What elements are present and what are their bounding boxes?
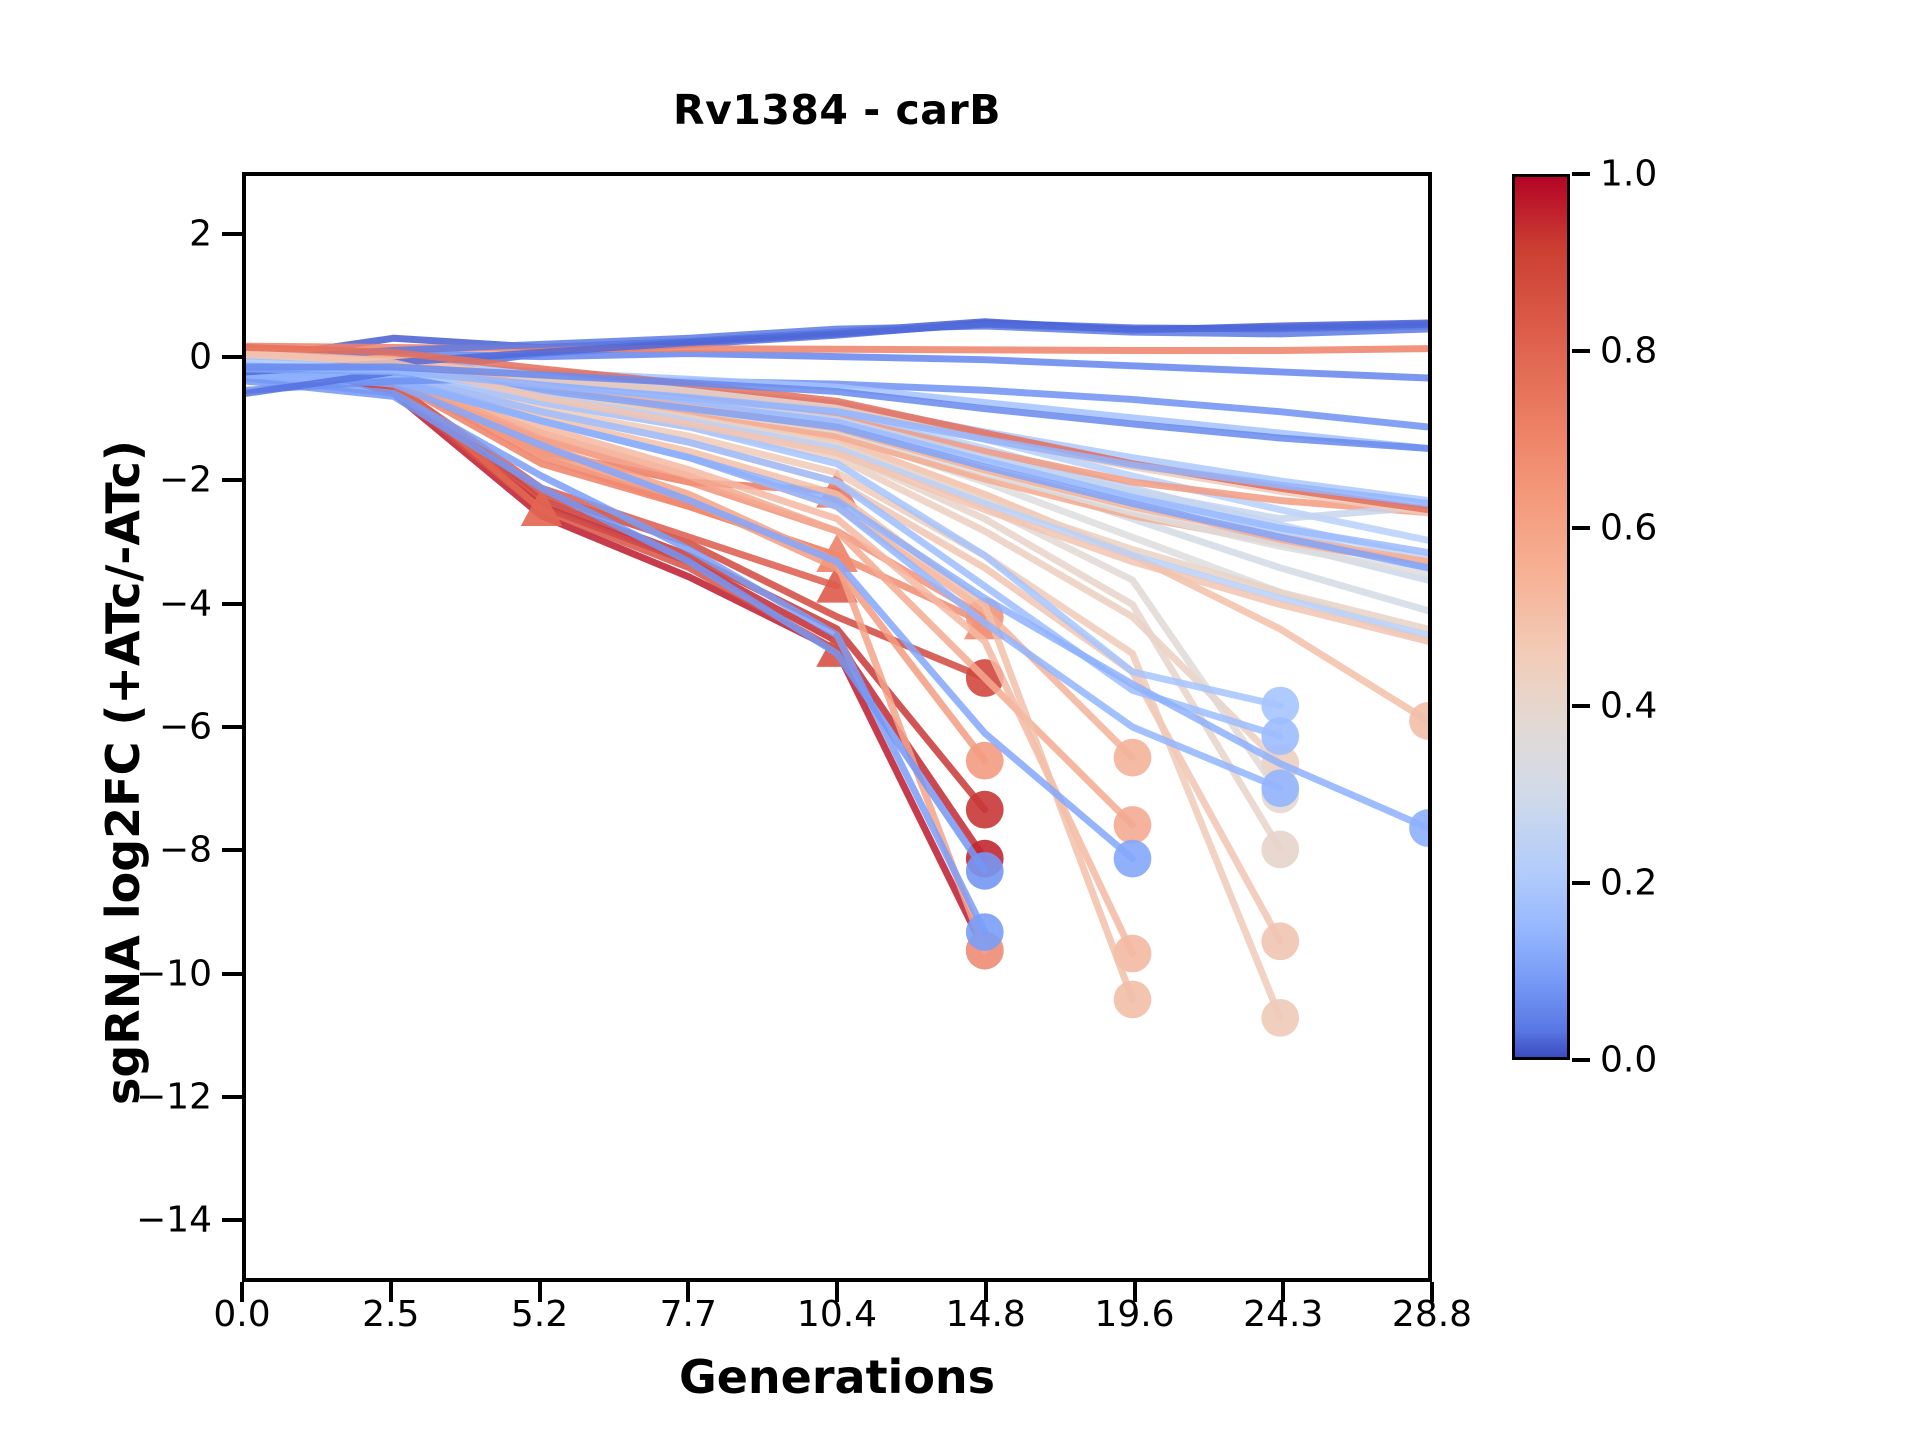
series-end-circle-marker [1261,922,1299,960]
series-end-circle-marker [1261,831,1299,869]
x-axis-tick-label: 24.3 [1243,1294,1323,1335]
series-end-circle-marker [966,791,1004,829]
series-end-circle-marker [1114,806,1152,844]
y-axis-tick [222,972,242,976]
colorbar [1512,174,1570,1060]
series-end-circle-marker [966,913,1004,951]
y-axis-tick [222,355,242,359]
plot-area [242,172,1432,1282]
y-axis-tick-label: −6 [159,707,212,748]
colorbar-tick [1572,526,1590,530]
x-axis-tick-label: 7.7 [660,1294,717,1335]
y-axis-tick [222,1095,242,1099]
y-axis-tick [222,602,242,606]
y-axis-title: sgRNA log2FC (+ATc/-ATc) [96,440,150,1105]
chart-page: Rv1384 - carB 20−2−4−6−8−10−12−140.02.55… [0,0,1920,1440]
y-axis-tick-label: −8 [159,830,212,871]
series-end-circle-marker [1261,769,1299,807]
colorbar-tick-label: 0.6 [1600,508,1657,549]
x-axis-tick-label: 5.2 [511,1294,568,1335]
series-end-circle-marker [1261,717,1299,755]
x-axis-tick-label: 2.5 [362,1294,419,1335]
y-axis-tick [222,478,242,482]
y-axis-tick-label: −14 [136,1200,212,1241]
y-axis-tick-label: 0 [189,337,212,378]
series-end-circle-marker [1114,981,1152,1019]
colorbar-tick-label: 0.4 [1600,685,1657,726]
y-axis-tick [222,725,242,729]
series-canvas [246,176,1428,1278]
y-axis-tick [222,232,242,236]
colorbar-tick [1572,881,1590,885]
colorbar-tick-label: 1.0 [1600,154,1657,195]
series-end-circle-marker [1261,999,1299,1037]
colorbar-tick-label: 0.8 [1600,331,1657,372]
y-axis-tick [222,1218,242,1222]
colorbar-tick [1572,1058,1590,1062]
series-end-circle-marker [1114,840,1152,878]
y-axis-tick-label: −4 [159,583,212,624]
y-axis-tick-label: −2 [159,460,212,501]
series-end-circle-marker [1114,739,1152,777]
x-axis-tick-label: 0.0 [213,1294,270,1335]
y-axis-tick [222,848,242,852]
colorbar-tick-label: 0.2 [1600,862,1657,903]
series-end-circle-marker [966,852,1004,890]
chart-title: Rv1384 - carB [242,86,1432,134]
x-axis-tick-label: 14.8 [946,1294,1026,1335]
x-axis-tick-label: 28.8 [1392,1294,1472,1335]
colorbar-tick-label: 0.0 [1600,1040,1657,1081]
series-end-circle-marker [1409,809,1428,847]
colorbar-tick [1572,704,1590,708]
x-axis-tick-label: 10.4 [797,1294,877,1335]
colorbar-tick [1572,172,1590,176]
x-axis-title: Generations [242,1350,1432,1404]
colorbar-tick [1572,349,1590,353]
x-axis-tick-label: 19.6 [1094,1294,1174,1335]
y-axis-tick-label: 2 [189,213,212,254]
